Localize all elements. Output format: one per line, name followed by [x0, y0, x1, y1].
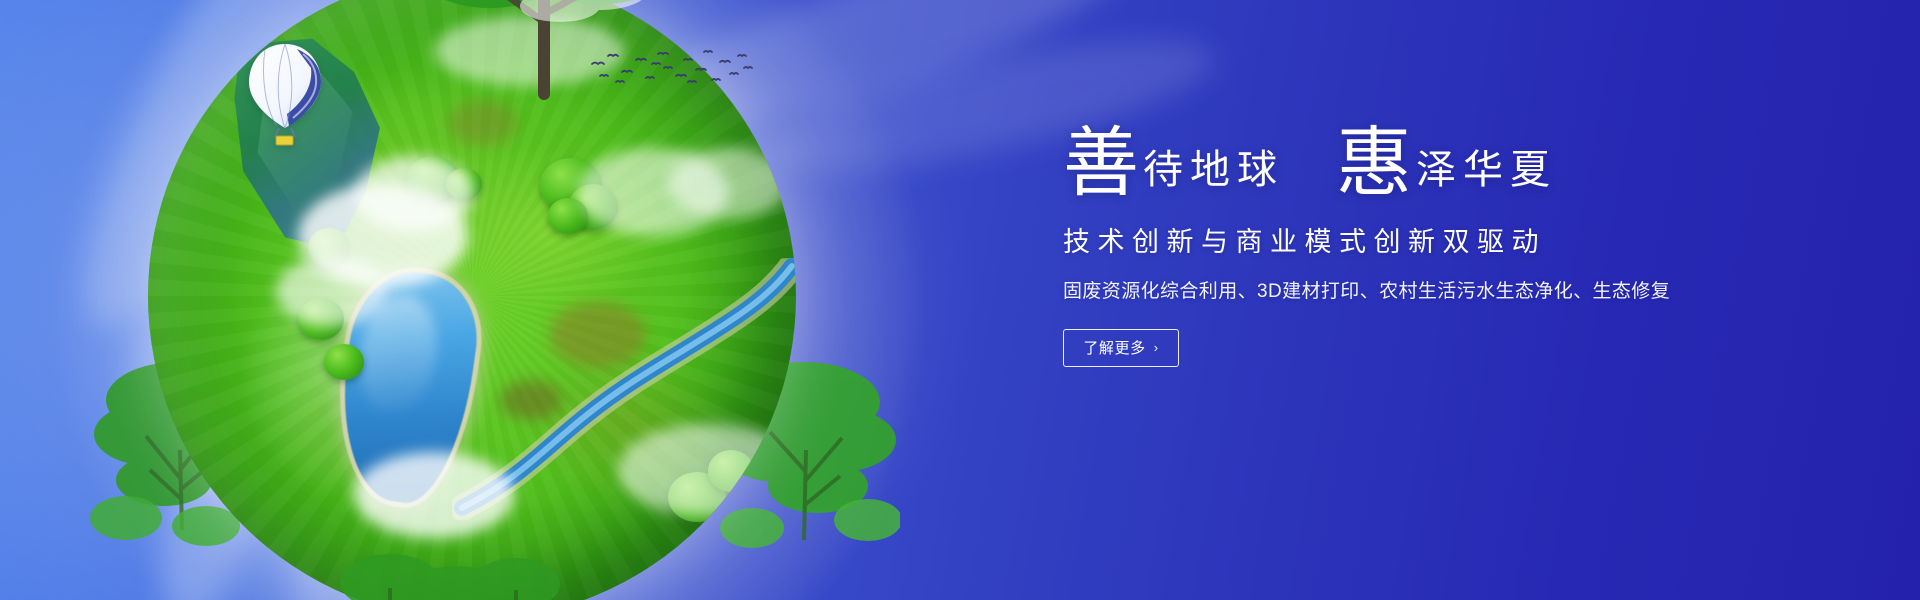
hero-description: 固废资源化综合利用、3D建材打印、农村生活污水生态净化、生态修复	[1063, 276, 1823, 303]
headline-phrase-1: 待地球	[1143, 150, 1284, 198]
headline-char-1: 善	[1063, 128, 1139, 198]
hero-banner: 善 待地球 惠 泽华夏 技术创新与商业模式创新双驱动 固废资源化综合利用、3D建…	[0, 0, 1920, 600]
headline-phrase-2: 泽华夏	[1416, 150, 1557, 198]
learn-more-label: 了解更多	[1083, 337, 1145, 358]
chevron-right-icon: ›	[1154, 341, 1159, 354]
planet-cloud	[276, 256, 388, 326]
planet-cloud	[618, 424, 796, 516]
planet-cloud	[354, 156, 474, 232]
learn-more-button[interactable]: 了解更多 ›	[1063, 329, 1179, 367]
rim-tree-icon	[330, 486, 560, 600]
planet-cloud	[668, 148, 788, 218]
shrub	[324, 344, 364, 380]
hero-copy-block: 善 待地球 惠 泽华夏 技术创新与商业模式创新双驱动 固废资源化综合利用、3D建…	[1063, 128, 1823, 367]
hot-air-balloon-icon	[243, 42, 327, 146]
headline-char-2: 惠	[1336, 128, 1412, 198]
hero-headline: 善 待地球 惠 泽华夏	[1063, 128, 1823, 198]
hero-subtitle: 技术创新与商业模式创新双驱动	[1063, 220, 1823, 259]
soil-patch	[448, 100, 518, 146]
bird-flock-icon	[588, 48, 753, 94]
